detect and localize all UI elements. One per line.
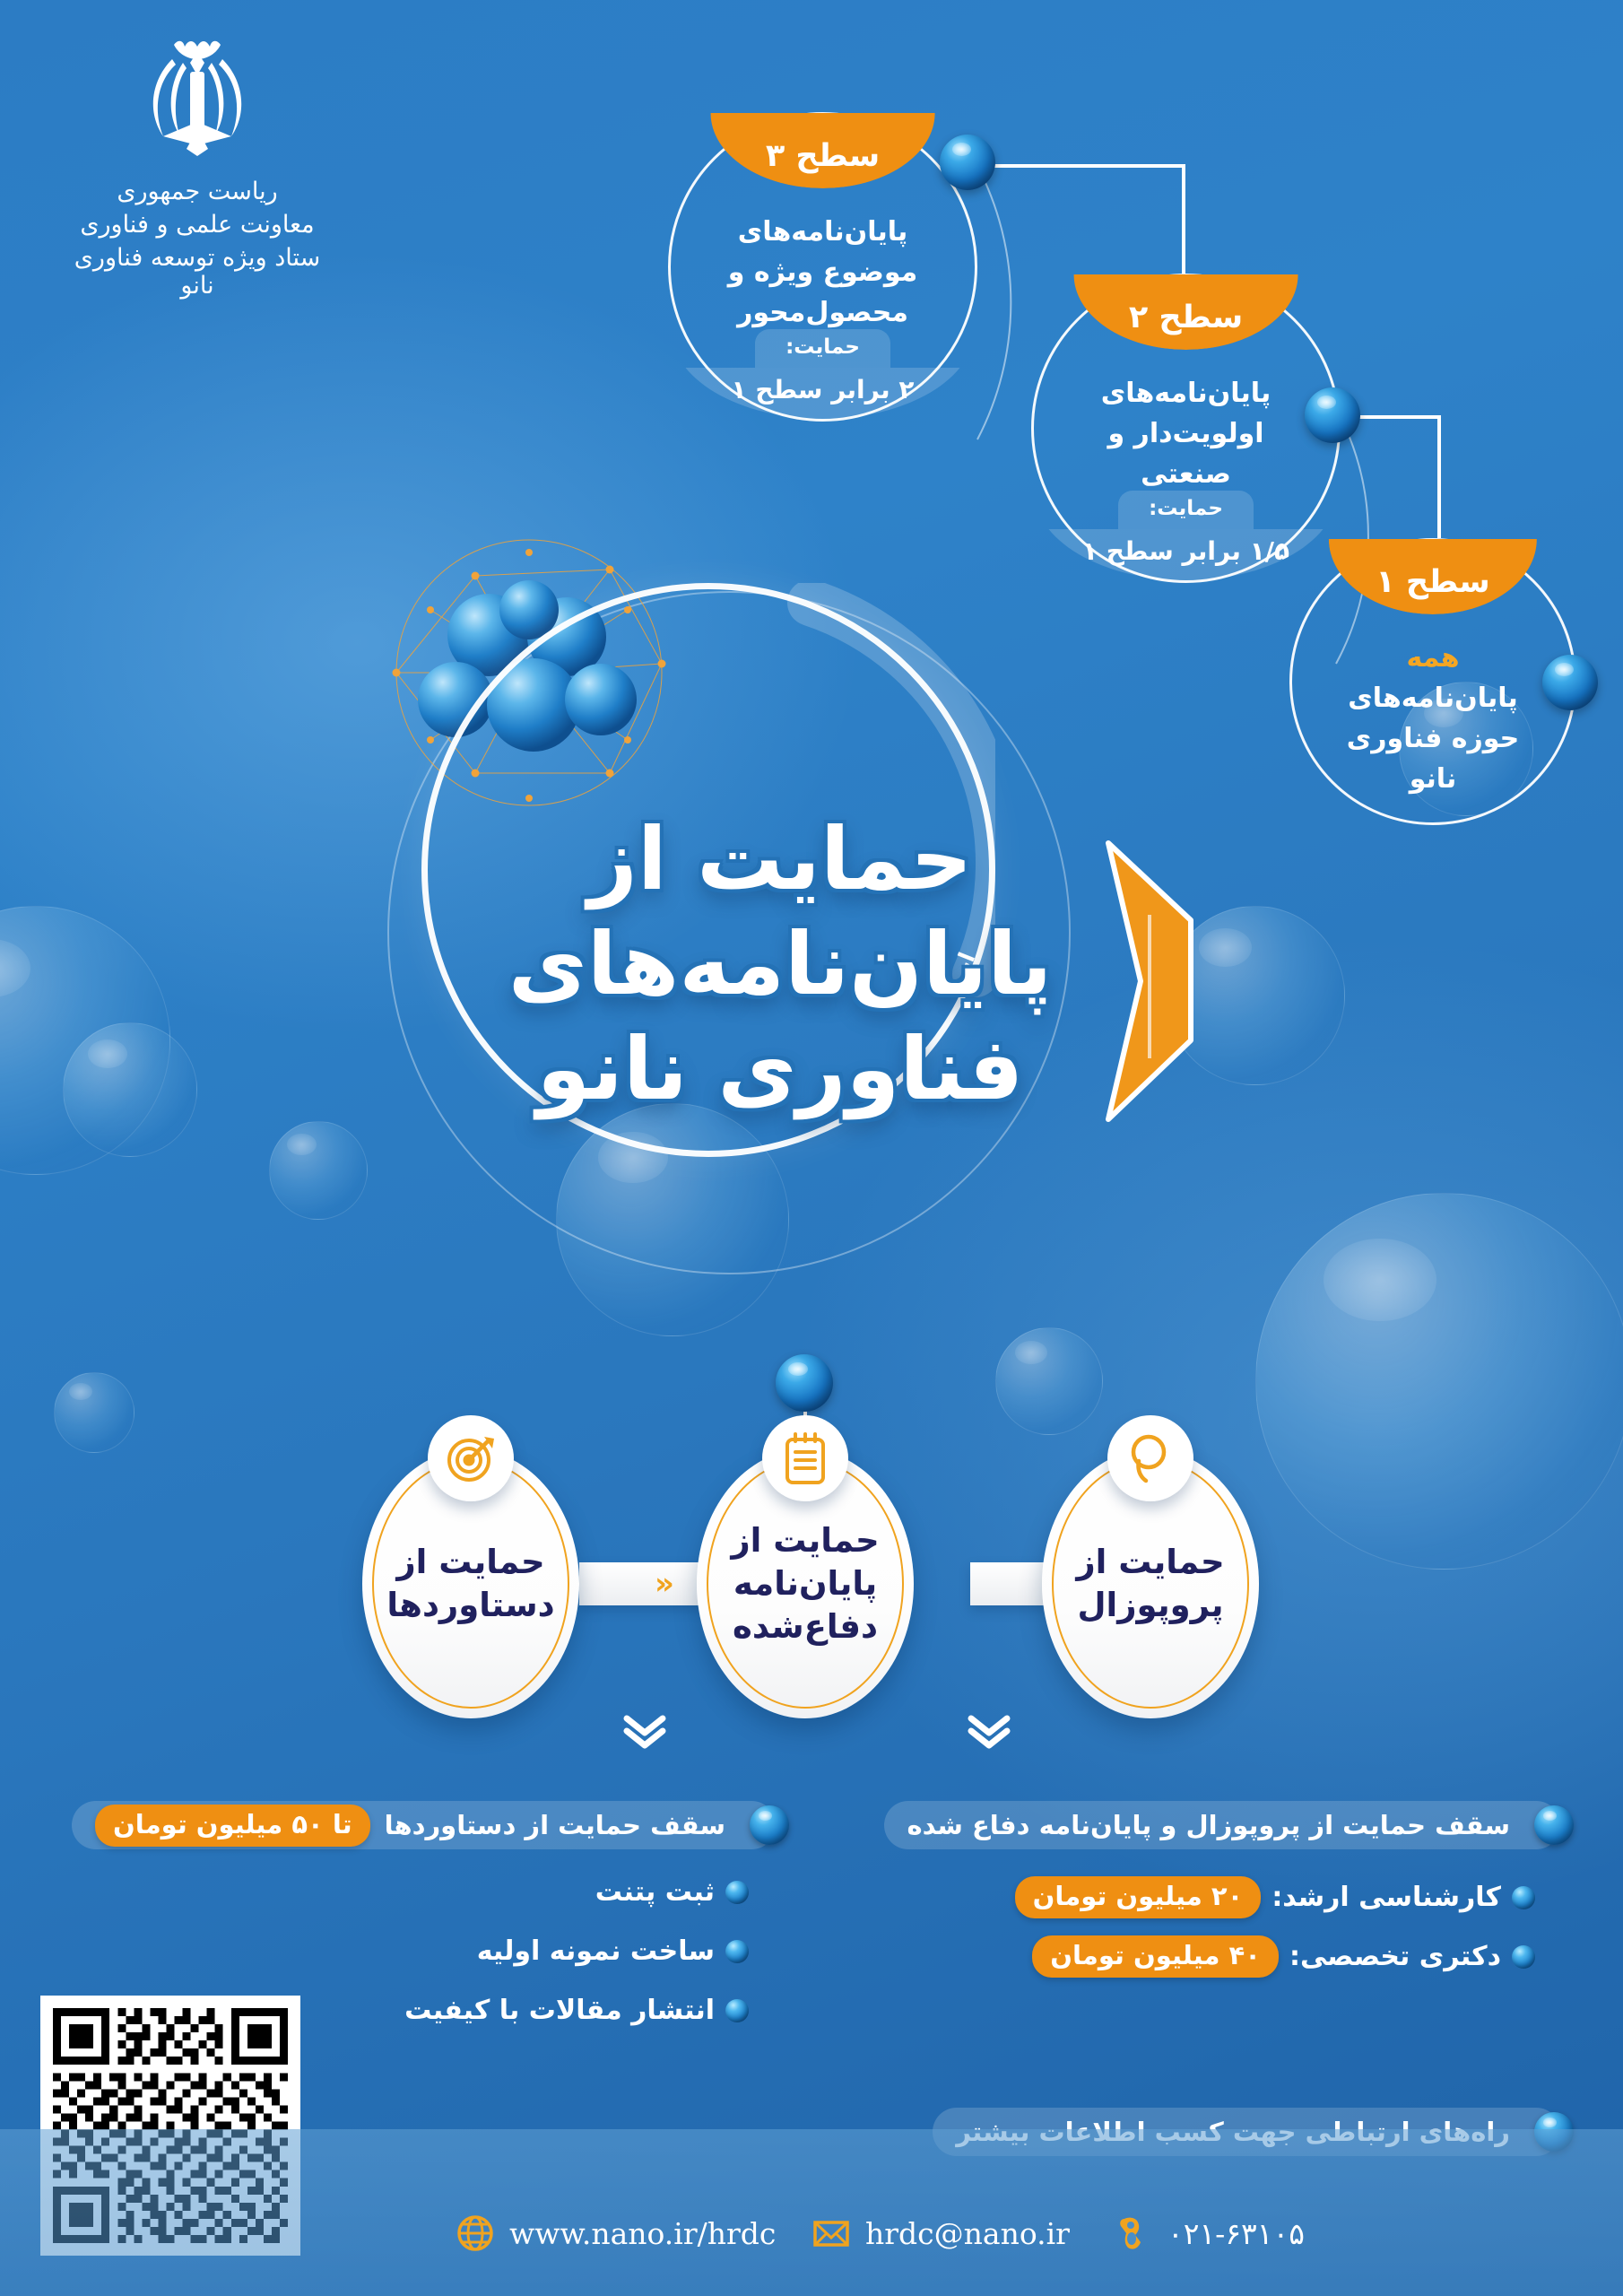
level-3-badge-label: سطح ۳ — [766, 138, 880, 174]
level-2-node-orb — [1305, 387, 1360, 443]
page-title: حمایت از پایان‌نامه‌های فناوری نانو — [502, 807, 1058, 1122]
chevron-down-icon — [965, 1711, 1013, 1749]
level-2-support-value: ۱/۵ برابر سطح ۱ — [1034, 529, 1338, 580]
stage-defended-thesis[interactable]: حمایت از پایان‌نامه دفاع‌شده — [697, 1449, 914, 1718]
chevron-down-icon — [621, 1711, 669, 1749]
title-line-2: پایان‌نامه‌های — [502, 912, 1058, 1017]
organization-logo: ریاست جمهوری معاونت علمی و فناوری ستاد و… — [63, 36, 332, 300]
level-1-circle[interactable]: سطح ۱ همه پایان‌نامه‌های حوزه فناوری نان… — [1289, 538, 1576, 825]
stage-achievements[interactable]: حمایت از دستاوردها — [362, 1449, 579, 1718]
level-2-support: حمایت: ۱/۵ برابر سطح ۱ — [1034, 491, 1338, 580]
logo-line-1: ریاست جمهوری — [63, 178, 332, 205]
right-section-heading-label: سقف حمایت از پروپوزال و پایان‌نامه دفاع … — [907, 1810, 1511, 1840]
left-bullet-2: ساخت نمونه اولیه — [477, 1935, 749, 1967]
contact-website[interactable]: www.nano.ir/hrdc — [456, 2213, 776, 2253]
masters-amount: ۲۰ میلیون تومان — [1015, 1876, 1262, 1918]
left-bullet-2-label: ساخت نمونه اولیه — [477, 1935, 715, 1967]
level-3-circle[interactable]: سطح ۳ پایان‌نامه‌های موضوع ویژه و محصول‌… — [668, 112, 977, 422]
title-line-1: حمایت از — [502, 807, 1058, 912]
logo-line-3: ستاد ویژه توسعه فناوری نانو — [63, 244, 332, 300]
decorative-bubble — [269, 1121, 368, 1220]
iran-emblem-icon — [108, 36, 287, 170]
masters-row: کارشناسی ارشد: ۲۰ میلیون تومان — [1015, 1876, 1535, 1918]
clipboard-icon — [762, 1415, 848, 1501]
level-2-badge: سطح ۲ — [1073, 274, 1298, 350]
left-bullet-1-label: ثبت پتنت — [595, 1876, 715, 1908]
level-3-support-value: ۲ برابر سطح ۱ — [671, 368, 975, 419]
left-bullet-1: ثبت پتنت — [595, 1876, 749, 1908]
contact-website-text: www.nano.ir/hrdc — [509, 2216, 776, 2251]
bullet-orb-icon — [1512, 1886, 1535, 1909]
stage-defended-thesis-label: حمایت از پایان‌نامه دفاع‌شده — [697, 1519, 914, 1648]
level-1-body-text: پایان‌نامه‌های حوزه فناوری نانو — [1347, 683, 1519, 795]
left-bullet-3-label: انتشار مقالات با کیفیت — [404, 1995, 715, 2026]
bullet-orb-icon — [725, 1940, 749, 1963]
target-icon — [428, 1415, 514, 1501]
level-3-support: حمایت: ۲ برابر سطح ۱ — [671, 329, 975, 419]
phd-label: دکتری تخصصی: — [1289, 1941, 1501, 1972]
level-3-node-orb — [940, 135, 995, 190]
level-1-badge: سطح ۱ — [1329, 539, 1537, 614]
contact-email-text: hrdc@nano.ir — [865, 2216, 1070, 2251]
stage-proposal[interactable]: حمایت از پروپوزال — [1042, 1449, 1259, 1718]
left-section-heading: سقف حمایت از دستاوردها تا ۵۰ میلیون توما… — [72, 1801, 776, 1849]
phd-row: دکتری تخصصی: ۴۰ میلیون تومان — [1032, 1935, 1535, 1978]
level-1-node-orb — [1542, 655, 1598, 710]
right-section-orb — [1534, 1805, 1574, 1845]
contact-phone[interactable]: ۰۲۱-۶۳۱۰۵ — [1114, 2213, 1305, 2253]
contact-email[interactable]: hrdc@nano.ir — [811, 2213, 1070, 2253]
decorative-bubble — [54, 1372, 135, 1453]
decorative-bubble — [0, 906, 170, 1175]
arc-highlight: همه — [421, 583, 430, 588]
phone-icon — [1114, 2213, 1153, 2253]
globe-icon — [456, 2213, 495, 2253]
level-2-support-label: حمایت: — [1118, 491, 1254, 529]
bullet-orb-icon — [725, 1881, 749, 1904]
achievements-amount: تا ۵۰ میلیون تومان — [95, 1805, 370, 1847]
stage-achievements-label: حمایت از دستاوردها — [362, 1541, 579, 1627]
title-line-3: فناوری نانو — [502, 1017, 1058, 1122]
decorative-bubble — [1255, 1193, 1623, 1570]
chevron-double-left-icon: « — [655, 1569, 674, 1599]
level-2-circle[interactable]: سطح ۲ پایان‌نامه‌های اولویت‌دار و صنعتی … — [1031, 274, 1341, 583]
envelope-icon — [811, 2213, 851, 2253]
level-1-badge-label: سطح ۱ — [1376, 564, 1489, 600]
arc-suffix: پایان‌نامه‌های تأیید شده حوزه فناوری نان… — [421, 583, 433, 589]
magnifier-icon — [1107, 1415, 1193, 1501]
decorative-bubble — [995, 1327, 1103, 1435]
bookmark-ribbon-icon — [1096, 834, 1203, 1130]
left-section-heading-label: سقف حمایت از دستاوردها — [385, 1810, 725, 1840]
masters-label: کارشناسی ارشد: — [1271, 1882, 1501, 1913]
level-1-highlight: همه — [1406, 642, 1459, 674]
footer-bar — [0, 2129, 1623, 2296]
level-3-support-label: حمایت: — [755, 329, 890, 368]
right-section-heading: سقف حمایت از پروپوزال و پایان‌نامه دفاع … — [884, 1801, 1561, 1849]
phd-amount: ۴۰ میلیون تومان — [1032, 1935, 1279, 1978]
bullet-orb-icon — [725, 1999, 749, 2022]
level-2-badge-label: سطح ۲ — [1129, 300, 1243, 335]
decorative-bubble — [63, 1022, 197, 1157]
left-bullet-3: انتشار مقالات با کیفیت — [404, 1995, 749, 2026]
level-2-body: پایان‌نامه‌های اولویت‌دار و صنعتی — [1034, 373, 1338, 494]
logo-line-2: معاونت علمی و فناوری — [63, 211, 332, 239]
level-3-body: پایان‌نامه‌های موضوع ویژه و محصول‌محور — [671, 212, 975, 333]
contact-phone-text: ۰۲۱-۶۳۱۰۵ — [1167, 2216, 1305, 2251]
level-3-badge: سطح ۳ — [710, 113, 935, 188]
bullet-orb-icon — [1512, 1945, 1535, 1969]
left-section-orb — [750, 1805, 789, 1845]
stage-proposal-label: حمایت از پروپوزال — [1042, 1541, 1259, 1627]
poster-canvas: ریاست جمهوری معاونت علمی و فناوری ستاد و… — [0, 0, 1623, 2296]
stage-stem-orb — [776, 1354, 833, 1412]
level-1-body: همه پایان‌نامه‌های حوزه فناوری نانو — [1292, 638, 1574, 799]
